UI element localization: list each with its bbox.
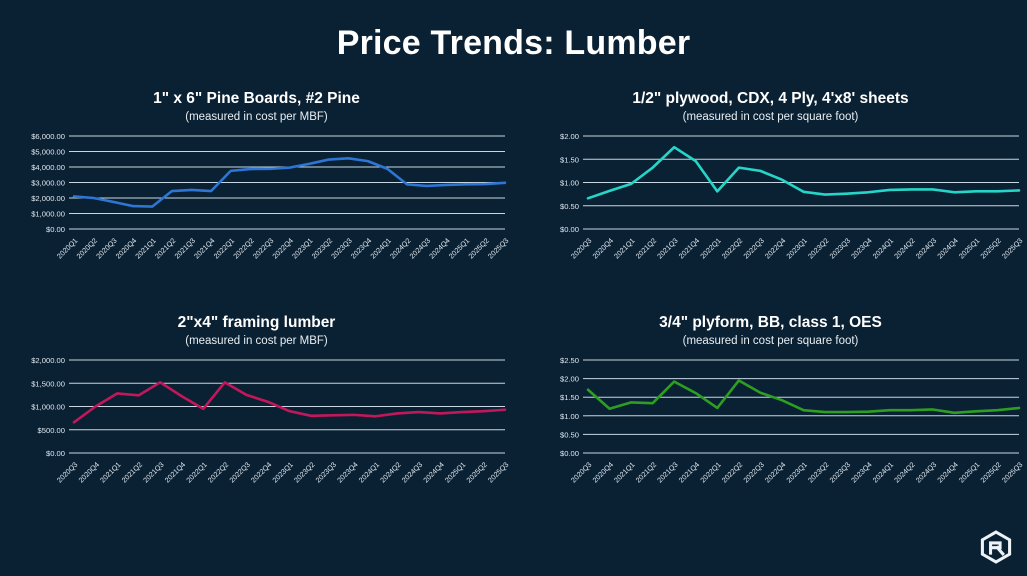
x-axis-tick-label: 2023Q2 [806, 460, 830, 484]
x-axis-tick-label: 2021Q3 [173, 236, 197, 260]
chart-plot-area: $0.00$1,000.00$2,000.00$3,000.00$4,000.0… [0, 124, 513, 284]
x-axis-tick-label: 2023Q4 [335, 460, 359, 484]
x-axis-tick-label: 2024Q3 [914, 460, 938, 484]
x-axis-tick-label: 2020Q4 [591, 460, 615, 484]
x-axis-tick-label: 2021Q2 [120, 460, 144, 484]
chart-subtitle: (measured in cost per square foot) [514, 335, 1027, 348]
x-axis-tick-label: 2024Q2 [378, 460, 402, 484]
x-axis-tick-label: 2022Q4 [249, 460, 273, 484]
x-axis-tick-label: 2024Q3 [400, 460, 424, 484]
x-axis-tick-label: 2021Q1 [133, 236, 157, 260]
chart-plot-area: $0.00$500.00$1,000.00$1,500.00$2,000.002… [0, 348, 513, 508]
series-line [74, 382, 505, 422]
x-axis-tick-label: 2022Q4 [763, 460, 787, 484]
x-axis-tick-label: 2022Q4 [763, 236, 787, 260]
x-axis-tick-label: 2021Q2 [634, 460, 658, 484]
x-axis-tick-label: 2021Q2 [634, 236, 658, 260]
x-axis-tick-label: 2022Q3 [741, 460, 765, 484]
x-axis-tick-label: 2023Q3 [314, 460, 338, 484]
x-axis-tick-label: 2022Q1 [698, 460, 722, 484]
chart-subtitle: (measured in cost per MBF) [0, 335, 513, 348]
x-axis-tick-label: 2020Q3 [569, 460, 593, 484]
x-axis-tick-label: 2025Q2 [464, 460, 488, 484]
y-axis-tick-label: $0.00 [46, 449, 65, 458]
x-axis-tick-label: 2023Q3 [329, 236, 353, 260]
y-axis-tick-label: $5,000.00 [31, 148, 65, 157]
x-axis-tick-label: 2020Q1 [55, 236, 79, 260]
chart-title: 3/4" plyform, BB, class 1, OES [514, 314, 1027, 332]
chart-header: 2"x4" framing lumber (measured in cost p… [0, 314, 513, 348]
line-chart-plywood-cdx: $0.00$0.50$1.00$1.50$2.002020Q32020Q4202… [514, 124, 1027, 284]
x-axis-tick-label: 2022Q1 [184, 460, 208, 484]
chart-panel-pine-boards: 1" x 6" Pine Boards, #2 Pine (measured i… [0, 90, 513, 284]
x-axis-tick-label: 2023Q2 [292, 460, 316, 484]
y-axis-tick-label: $2.00 [560, 375, 579, 384]
y-axis-tick-label: $3,000.00 [31, 179, 65, 188]
x-axis-tick-label: 2021Q2 [153, 236, 177, 260]
y-axis-tick-label: $2,000.00 [31, 356, 65, 365]
x-axis-tick-label: 2021Q1 [612, 236, 636, 260]
series-line [588, 380, 1019, 412]
y-axis-tick-label: $1.50 [560, 393, 579, 402]
x-axis-tick-label: 2023Q1 [784, 236, 808, 260]
chart-header: 3/4" plyform, BB, class 1, OES (measured… [514, 314, 1027, 348]
y-axis-tick-label: $1.50 [560, 155, 579, 164]
x-axis-tick-label: 2025Q3 [1000, 460, 1024, 484]
x-axis-tick-label: 2023Q3 [828, 236, 852, 260]
x-axis-tick-label: 2024Q1 [357, 460, 381, 484]
y-axis-tick-label: $1,000.00 [31, 210, 65, 219]
x-axis-tick-label: 2022Q3 [251, 236, 275, 260]
x-axis-tick-label: 2022Q3 [227, 460, 251, 484]
x-axis-tick-label: 2020Q3 [55, 460, 79, 484]
x-axis-tick-label: 2020Q3 [94, 236, 118, 260]
x-axis-tick-label: 2023Q1 [290, 236, 314, 260]
x-axis-tick-label: 2025Q1 [447, 236, 471, 260]
slide-root: Price Trends: Lumber 1" x 6" Pine Boards… [0, 0, 1027, 576]
x-axis-tick-label: 2020Q4 [77, 460, 101, 484]
y-axis-tick-label: $1.00 [560, 412, 579, 421]
x-axis-tick-label: 2025Q3 [486, 460, 510, 484]
chart-header: 1/2" plywood, CDX, 4 Ply, 4'x8' sheets (… [514, 90, 1027, 124]
x-axis-tick-label: 2022Q2 [720, 460, 744, 484]
x-axis-tick-label: 2024Q2 [892, 460, 916, 484]
y-axis-tick-label: $1.00 [560, 179, 579, 188]
chart-title: 2"x4" framing lumber [0, 314, 513, 332]
company-logo [979, 530, 1013, 564]
chart-subtitle: (measured in cost per MBF) [0, 111, 513, 124]
x-axis-tick-label: 2023Q4 [849, 236, 873, 260]
x-axis-tick-label: 2024Q1 [368, 236, 392, 260]
x-axis-tick-label: 2025Q3 [1000, 236, 1024, 260]
y-axis-tick-label: $0.00 [46, 225, 65, 234]
x-axis-tick-label: 2022Q4 [270, 236, 294, 260]
x-axis-tick-label: 2023Q1 [270, 460, 294, 484]
x-axis-tick-label: 2022Q1 [698, 236, 722, 260]
x-axis-tick-label: 2021Q4 [677, 460, 701, 484]
x-axis-tick-label: 2024Q4 [935, 460, 959, 484]
x-axis-tick-label: 2025Q2 [466, 236, 490, 260]
x-axis-tick-label: 2025Q2 [978, 236, 1002, 260]
series-line [588, 147, 1019, 198]
x-axis-tick-label: 2021Q4 [677, 236, 701, 260]
chart-panel-plyform: 3/4" plyform, BB, class 1, OES (measured… [514, 314, 1027, 508]
x-axis-tick-label: 2021Q3 [655, 236, 679, 260]
x-axis-tick-label: 2023Q2 [806, 236, 830, 260]
y-axis-tick-label: $500.00 [38, 426, 65, 435]
x-axis-tick-label: 2020Q4 [114, 236, 138, 260]
y-axis-tick-label: $0.00 [560, 225, 579, 234]
y-axis-tick-label: $0.50 [560, 430, 579, 439]
x-axis-tick-label: 2025Q3 [486, 236, 510, 260]
x-axis-tick-label: 2021Q1 [98, 460, 122, 484]
chart-header: 1" x 6" Pine Boards, #2 Pine (measured i… [0, 90, 513, 124]
x-axis-tick-label: 2024Q1 [871, 460, 895, 484]
x-axis-tick-label: 2024Q1 [871, 236, 895, 260]
x-axis-tick-label: 2023Q3 [828, 460, 852, 484]
x-axis-tick-label: 2021Q4 [163, 460, 187, 484]
line-chart-pine-boards: $0.00$1,000.00$2,000.00$3,000.00$4,000.0… [0, 124, 513, 284]
x-axis-tick-label: 2024Q2 [892, 236, 916, 260]
x-axis-tick-label: 2020Q3 [569, 236, 593, 260]
x-axis-tick-label: 2020Q2 [75, 236, 99, 260]
x-axis-tick-label: 2021Q4 [192, 236, 216, 260]
y-axis-tick-label: $2.00 [560, 132, 579, 141]
x-axis-tick-label: 2022Q2 [231, 236, 255, 260]
chart-panel-framing-lumber: 2"x4" framing lumber (measured in cost p… [0, 314, 513, 508]
line-chart-plyform: $0.00$0.50$1.00$1.50$2.00$2.502020Q32020… [514, 348, 1027, 508]
x-axis-tick-label: 2024Q4 [427, 236, 451, 260]
x-axis-tick-label: 2021Q1 [612, 460, 636, 484]
y-axis-tick-label: $6,000.00 [31, 132, 65, 141]
y-axis-tick-label: $0.00 [560, 449, 579, 458]
x-axis-tick-label: 2022Q1 [212, 236, 236, 260]
x-axis-tick-label: 2022Q3 [741, 236, 765, 260]
x-axis-tick-label: 2024Q3 [408, 236, 432, 260]
chart-plot-area: $0.00$0.50$1.00$1.50$2.002020Q32020Q4202… [514, 124, 1027, 284]
x-axis-tick-label: 2023Q4 [849, 460, 873, 484]
x-axis-tick-label: 2022Q2 [206, 460, 230, 484]
y-axis-tick-label: $2.50 [560, 356, 579, 365]
x-axis-tick-label: 2025Q1 [443, 460, 467, 484]
x-axis-tick-label: 2025Q1 [957, 460, 981, 484]
x-axis-tick-label: 2024Q4 [421, 460, 445, 484]
y-axis-tick-label: $4,000.00 [31, 163, 65, 172]
chart-subtitle: (measured in cost per square foot) [514, 111, 1027, 124]
y-axis-tick-label: $2,000.00 [31, 194, 65, 203]
chart-plot-area: $0.00$0.50$1.00$1.50$2.00$2.502020Q32020… [514, 348, 1027, 508]
x-axis-tick-label: 2024Q2 [388, 236, 412, 260]
y-axis-tick-label: $1,500.00 [31, 379, 65, 388]
line-chart-framing-lumber: $0.00$500.00$1,000.00$1,500.00$2,000.002… [0, 348, 513, 508]
chart-title: 1" x 6" Pine Boards, #2 Pine [0, 90, 513, 108]
x-axis-tick-label: 2025Q1 [957, 236, 981, 260]
x-axis-tick-label: 2023Q1 [784, 460, 808, 484]
x-axis-tick-label: 2021Q3 [141, 460, 165, 484]
x-axis-tick-label: 2021Q3 [655, 460, 679, 484]
y-axis-tick-label: $0.50 [560, 202, 579, 211]
chart-title: 1/2" plywood, CDX, 4 Ply, 4'x8' sheets [514, 90, 1027, 108]
x-axis-tick-label: 2024Q4 [935, 236, 959, 260]
x-axis-tick-label: 2024Q3 [914, 236, 938, 260]
x-axis-tick-label: 2023Q2 [310, 236, 334, 260]
x-axis-tick-label: 2023Q4 [349, 236, 373, 260]
chart-panel-plywood-cdx: 1/2" plywood, CDX, 4 Ply, 4'x8' sheets (… [514, 90, 1027, 284]
y-axis-tick-label: $1,000.00 [31, 403, 65, 412]
x-axis-tick-label: 2022Q2 [720, 236, 744, 260]
page-title: Price Trends: Lumber [0, 24, 1027, 63]
x-axis-tick-label: 2020Q4 [591, 236, 615, 260]
x-axis-tick-label: 2025Q2 [978, 460, 1002, 484]
